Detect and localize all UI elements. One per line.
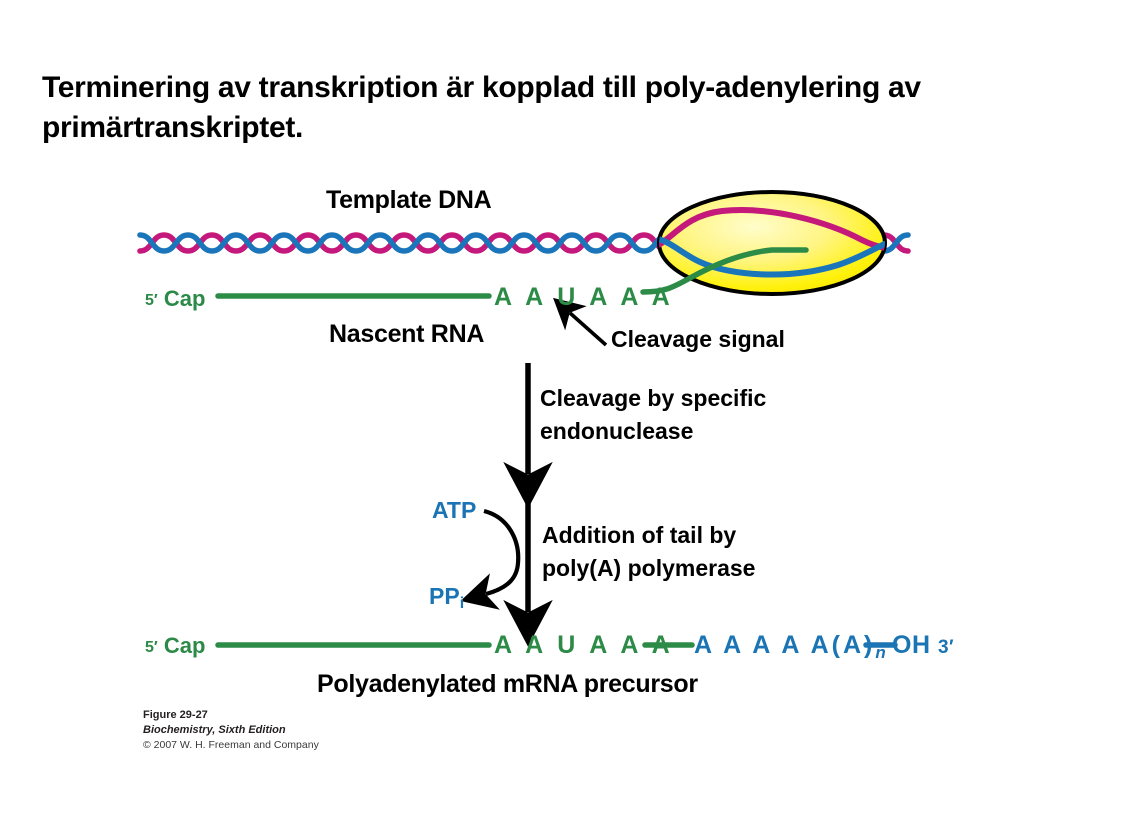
cleavage-signal-pointer xyxy=(570,313,606,345)
five-prime-symbol-bottom: 5′ xyxy=(145,639,158,656)
three-prime-symbol: 3′ xyxy=(938,637,954,658)
cofactor-curved-arrow xyxy=(484,511,518,594)
cleavage-signal-sequence-top: A A U A A A xyxy=(494,283,674,312)
cleavage-signal-label: Cleavage signal xyxy=(611,326,785,353)
step-cleavage-line2: endonuclease xyxy=(540,415,766,448)
cap-text-top: Cap xyxy=(164,286,206,311)
cap-text-bottom: Cap xyxy=(164,633,206,658)
step-cleavage-line1: Cleavage by specific xyxy=(540,382,766,415)
three-prime-oh-label: OH 3′ xyxy=(892,631,954,660)
polya-tail-bases: A A A A A(A) xyxy=(694,631,875,659)
dna-double-helix xyxy=(140,235,668,251)
template-dna-label: Template DNA xyxy=(326,186,491,215)
atp-label: ATP xyxy=(432,497,476,524)
nascent-rna-label: Nascent RNA xyxy=(329,320,484,349)
step-addition-line2: poly(A) polymerase xyxy=(542,552,755,585)
oh-text: OH xyxy=(892,631,931,659)
ppi-subscript: i xyxy=(460,595,464,612)
five-prime-symbol-top: 5′ xyxy=(145,292,158,309)
five-prime-cap-top: 5′ Cap xyxy=(145,286,205,312)
cleavage-signal-sequence-bottom: A A U A A A xyxy=(494,631,674,660)
polyadenylated-mrna-label: Polyadenylated mRNA precursor xyxy=(317,670,698,699)
polya-tail-sequence: A A A A A(A)n xyxy=(694,631,886,663)
five-prime-cap-bottom: 5′ Cap xyxy=(145,633,205,659)
book-title: Biochemistry, Sixth Edition xyxy=(143,723,319,738)
figure-number: Figure 29-27 xyxy=(143,708,319,723)
figure-credit: Figure 29-27 Biochemistry, Sixth Edition… xyxy=(143,708,319,753)
copyright-notice: © 2007 W. H. Freeman and Company xyxy=(143,738,319,753)
slide-canvas: Terminering av transkription är kopplad … xyxy=(0,0,1130,816)
ppi-base: PP xyxy=(429,583,460,609)
step-label-polyadenylation: Addition of tail by poly(A) polymerase xyxy=(542,519,755,585)
polya-tail-subscript: n xyxy=(875,643,885,662)
step-label-cleavage: Cleavage by specific endonuclease xyxy=(540,382,766,448)
step-addition-line1: Addition of tail by xyxy=(542,519,755,552)
ppi-label: PPi xyxy=(429,583,464,613)
